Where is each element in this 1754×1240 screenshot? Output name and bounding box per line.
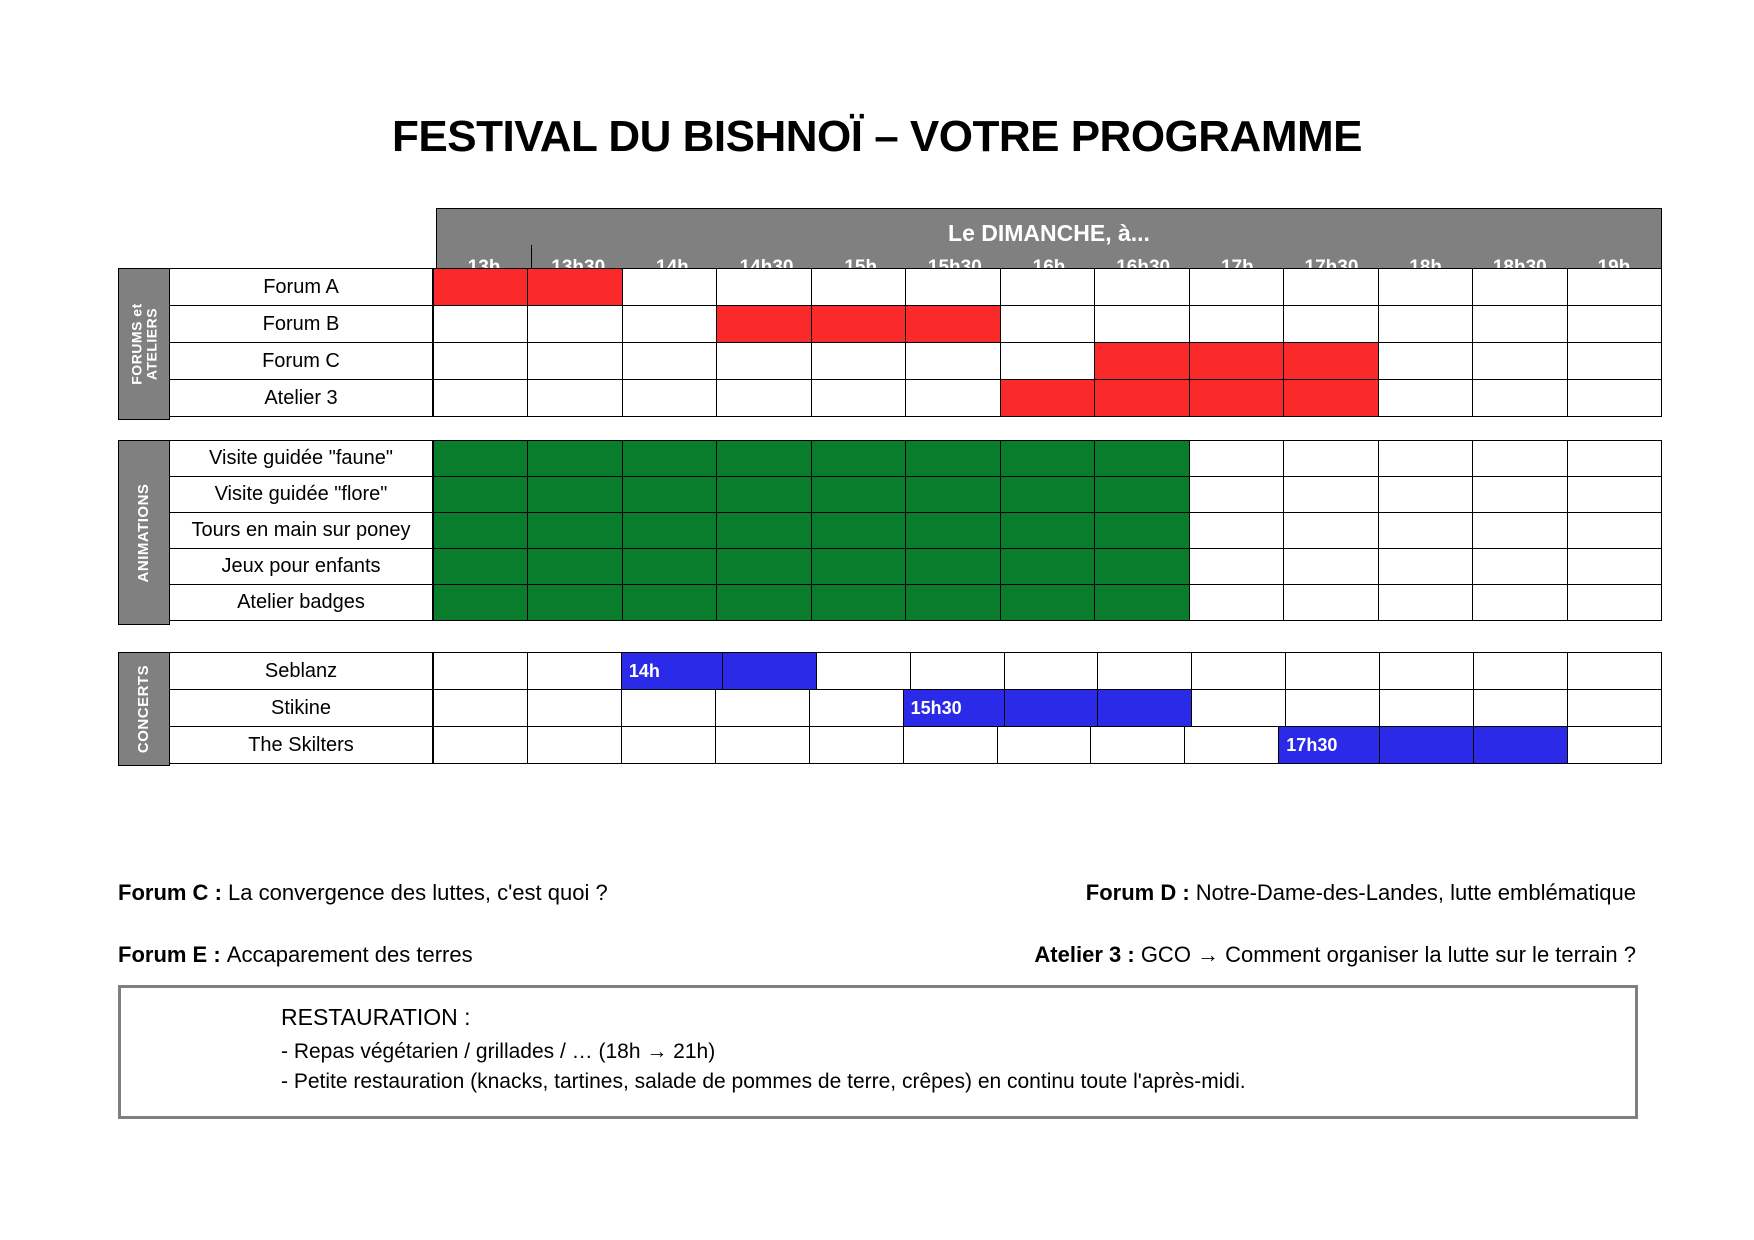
timeline-empty-cell[interactable]: [1285, 689, 1380, 727]
timeline-empty-cell[interactable]: [1567, 342, 1662, 380]
timeline-empty-cell[interactable]: [1567, 652, 1662, 690]
timeline-empty-cell[interactable]: [1567, 548, 1662, 585]
timeline-empty-cell[interactable]: [1378, 512, 1473, 549]
timeline-empty-cell[interactable]: [1567, 476, 1662, 513]
row-label: Visite guidée "faune": [170, 440, 433, 477]
timeline-grid: 14h15h3017h30: [433, 652, 1662, 766]
row-label: Forum B: [170, 305, 433, 343]
timeline-empty-cell[interactable]: [1283, 268, 1378, 306]
timeline-empty-cell[interactable]: [527, 689, 622, 727]
timeline-bar-cell[interactable]: [433, 584, 528, 621]
timeline-empty-cell[interactable]: [1283, 440, 1378, 477]
footer-note: Forum C : La convergence des luttes, c'e…: [118, 880, 608, 906]
timeline-bar-cell[interactable]: [527, 476, 622, 513]
timeline-empty-cell[interactable]: [1189, 584, 1284, 621]
timeline-empty-cell[interactable]: [1567, 726, 1662, 764]
restauration-title: RESTAURATION :: [281, 1004, 1617, 1031]
timeline-bar-cell[interactable]: [905, 440, 1000, 477]
timeline-bar-cell[interactable]: [1094, 512, 1189, 549]
timeline-bar-cell[interactable]: [811, 584, 906, 621]
section-band-line: CONCERTS: [136, 665, 152, 753]
timeline-empty-cell[interactable]: [1097, 652, 1192, 690]
timeline-empty-cell[interactable]: [715, 726, 810, 764]
row-label: Atelier 3: [170, 379, 433, 417]
timeline-bar-cell[interactable]: [527, 584, 622, 621]
timeline-empty-cell[interactable]: [716, 379, 811, 417]
timeline-empty-cell[interactable]: [1285, 652, 1380, 690]
footer-note-separator: :: [208, 880, 228, 905]
timeline-empty-cell[interactable]: [1472, 305, 1567, 343]
timeline-bar-cell[interactable]: [1189, 342, 1284, 380]
timeline-row: [433, 342, 1662, 380]
timeline-empty-cell[interactable]: [527, 652, 622, 690]
timeline-empty-cell[interactable]: [1567, 584, 1662, 621]
timeline-empty-cell[interactable]: [622, 268, 717, 306]
timeline-empty-cell[interactable]: [1472, 584, 1567, 621]
row-label: The Skilters: [170, 726, 433, 764]
timeline-bar-cell[interactable]: [905, 476, 1000, 513]
timeline-empty-cell[interactable]: [1000, 342, 1095, 380]
timeline-bar-cell[interactable]: [622, 440, 717, 477]
timeline-empty-cell[interactable]: [816, 652, 911, 690]
timeline-bar-label[interactable]: 14h: [621, 652, 723, 690]
timeline-empty-cell[interactable]: [1094, 305, 1189, 343]
timeline-bar-label[interactable]: 15h30: [903, 689, 1005, 727]
footer-note-separator: :: [1121, 942, 1141, 967]
timeline-empty-cell[interactable]: [1567, 268, 1662, 306]
timeline-empty-cell[interactable]: [1189, 305, 1284, 343]
row-label: Seblanz: [170, 652, 433, 690]
footer-note-name: Forum D: [1086, 880, 1176, 905]
row-label: Forum C: [170, 342, 433, 380]
timeline-empty-cell[interactable]: [1378, 440, 1473, 477]
programme-page: FESTIVAL DU BISHNOÏ – VOTRE PROGRAMME Le…: [0, 0, 1754, 1240]
timeline-bar-cell[interactable]: [527, 268, 622, 306]
timeline-empty-cell[interactable]: [1567, 689, 1662, 727]
timeline-empty-cell[interactable]: [433, 652, 528, 690]
footer-note-text: Accaparement des terres: [227, 942, 473, 967]
timeline-row: [433, 548, 1662, 585]
timeline-empty-cell[interactable]: [1472, 379, 1567, 417]
timeline-bar-cell[interactable]: [716, 476, 811, 513]
footer-note: Forum E : Accaparement des terres: [118, 942, 473, 968]
timeline-bar-cell[interactable]: [433, 548, 528, 585]
timeline-bar-cell[interactable]: [1094, 440, 1189, 477]
timeline-empty-cell[interactable]: [527, 342, 622, 380]
timeline-empty-cell[interactable]: [1473, 689, 1568, 727]
timeline-bar-label[interactable]: 17h30: [1278, 726, 1380, 764]
timeline-empty-cell[interactable]: [622, 342, 717, 380]
schedule-section: FORUMS etATELIERSForum AForum BForum CAt…: [118, 268, 1662, 420]
timeline-empty-cell[interactable]: [1378, 548, 1473, 585]
timeline-empty-cell[interactable]: [433, 379, 528, 417]
day-title: Le DIMANCHE, à...: [437, 209, 1661, 253]
timeline-row: [433, 512, 1662, 549]
timeline-row: [433, 584, 1662, 621]
timeline-empty-cell[interactable]: [433, 689, 528, 727]
timeline-empty-cell[interactable]: [1472, 512, 1567, 549]
timeline-empty-cell[interactable]: [811, 379, 906, 417]
row-label-column: Forum AForum BForum CAtelier 3: [170, 268, 433, 420]
timeline-bar-cell[interactable]: [811, 440, 906, 477]
timeline-empty-cell[interactable]: [1283, 548, 1378, 585]
timeline-bar-cell[interactable]: [716, 584, 811, 621]
timeline-bar-cell[interactable]: [433, 512, 528, 549]
timeline-row: 17h30: [433, 726, 1662, 764]
timeline-empty-cell[interactable]: [1189, 476, 1284, 513]
timeline-bar-cell[interactable]: [1004, 689, 1099, 727]
row-label-column: SeblanzStikineThe Skilters: [170, 652, 433, 766]
timeline-empty-cell[interactable]: [1567, 379, 1662, 417]
section-band-line: FORUMS et: [129, 303, 144, 385]
timeline-empty-cell[interactable]: [1378, 476, 1473, 513]
note-row: Forum E : Accaparement des terresAtelier…: [0, 942, 1754, 968]
timeline-empty-cell[interactable]: [1379, 652, 1474, 690]
timeline-empty-cell[interactable]: [903, 726, 998, 764]
footer-note: Atelier 3 : GCO → Comment organiser la l…: [1034, 942, 1636, 968]
timeline-empty-cell[interactable]: [1378, 379, 1473, 417]
timeline-bar-cell[interactable]: [1094, 476, 1189, 513]
timeline-bar-cell[interactable]: [1283, 342, 1378, 380]
timeline-bar-cell[interactable]: [716, 512, 811, 549]
timeline-empty-cell[interactable]: [1184, 726, 1279, 764]
timeline-empty-cell[interactable]: [809, 726, 904, 764]
timeline-empty-cell[interactable]: [1378, 268, 1473, 306]
timeline-empty-cell[interactable]: [1189, 548, 1284, 585]
timeline-empty-cell[interactable]: [1000, 268, 1095, 306]
restauration-line: - Petite restauration (knacks, tartines,…: [281, 1067, 1617, 1097]
timeline-bar-cell[interactable]: [811, 548, 906, 585]
timeline-empty-cell[interactable]: [1472, 548, 1567, 585]
timeline-bar-cell[interactable]: [811, 476, 906, 513]
row-label: Tours en main sur poney: [170, 512, 433, 549]
footer-note: Forum D : Notre-Dame-des-Landes, lutte e…: [1086, 880, 1636, 906]
footer-note-text: Notre-Dame-des-Landes, lutte emblématiqu…: [1196, 880, 1636, 905]
timeline-empty-cell[interactable]: [433, 305, 528, 343]
timeline-bar-cell[interactable]: [1094, 379, 1189, 417]
timeline-bar-cell[interactable]: [622, 548, 717, 585]
timeline-row: 14h: [433, 652, 1662, 690]
timeline-bar-cell[interactable]: [1000, 440, 1095, 477]
timeline-empty-cell[interactable]: [1094, 268, 1189, 306]
timeline-bar-cell[interactable]: [622, 512, 717, 549]
timeline-bar-cell[interactable]: [905, 548, 1000, 585]
section-band: CONCERTS: [118, 652, 170, 766]
footer-note-separator: :: [1176, 880, 1196, 905]
timeline-empty-cell[interactable]: [622, 305, 717, 343]
section-band: ANIMATIONS: [118, 440, 170, 625]
timeline-empty-cell[interactable]: [433, 726, 528, 764]
timeline-empty-cell[interactable]: [910, 652, 1005, 690]
section-band-label: CONCERTS: [136, 665, 152, 753]
timeline-empty-cell[interactable]: [1000, 305, 1095, 343]
timeline-bar-cell[interactable]: [527, 512, 622, 549]
timeline-empty-cell[interactable]: [716, 342, 811, 380]
timeline-empty-cell[interactable]: [1378, 305, 1473, 343]
timeline-empty-cell[interactable]: [1567, 512, 1662, 549]
timeline-bar-cell[interactable]: [1000, 476, 1095, 513]
timeline-empty-cell[interactable]: [1472, 342, 1567, 380]
footer-note-name: Forum C: [118, 880, 208, 905]
timeline-bar-cell[interactable]: [1000, 379, 1095, 417]
timeline-empty-cell[interactable]: [1189, 268, 1284, 306]
timeline-bar-cell[interactable]: [1097, 689, 1192, 727]
section-band-label: ANIMATIONS: [136, 483, 152, 582]
timeline-empty-cell[interactable]: [1473, 652, 1568, 690]
timeline-bar-cell[interactable]: [433, 440, 528, 477]
section-band: FORUMS etATELIERS: [118, 268, 170, 420]
timeline-bar-cell[interactable]: [433, 476, 528, 513]
timeline-empty-cell[interactable]: [1283, 305, 1378, 343]
timeline-bar-cell[interactable]: [1189, 379, 1284, 417]
timeline-empty-cell[interactable]: [997, 726, 1092, 764]
timeline-bar-cell[interactable]: [1000, 512, 1095, 549]
timeline-bar-cell[interactable]: [527, 440, 622, 477]
timeline-grid: [433, 440, 1662, 625]
timeline-empty-cell[interactable]: [1283, 584, 1378, 621]
section-band-line: ANIMATIONS: [136, 483, 152, 582]
row-label: Forum A: [170, 268, 433, 306]
timeline-row: 15h30: [433, 689, 1662, 727]
timeline-bar-cell[interactable]: [722, 652, 817, 690]
timeline-empty-cell[interactable]: [1090, 726, 1185, 764]
section-band-label: FORUMS etATELIERS: [129, 303, 158, 385]
timeline-bar-cell[interactable]: [716, 305, 811, 343]
restauration-box: RESTAURATION : - Repas végétarien / gril…: [118, 985, 1638, 1119]
timeline-bar-cell[interactable]: [1094, 342, 1189, 380]
row-label: Stikine: [170, 689, 433, 727]
timeline-empty-cell[interactable]: [1191, 689, 1286, 727]
timeline-empty-cell[interactable]: [905, 268, 1000, 306]
timeline-empty-cell[interactable]: [905, 379, 1000, 417]
timeline-empty-cell[interactable]: [1472, 268, 1567, 306]
page-title: FESTIVAL DU BISHNOÏ – VOTRE PROGRAMME: [0, 112, 1754, 162]
timeline-bar-cell[interactable]: [905, 512, 1000, 549]
row-label: Atelier badges: [170, 584, 433, 621]
timeline-empty-cell[interactable]: [1189, 440, 1284, 477]
timeline-empty-cell[interactable]: [621, 689, 716, 727]
timeline-empty-cell[interactable]: [715, 689, 810, 727]
timeline-bar-cell[interactable]: [622, 476, 717, 513]
timeline-bar-cell[interactable]: [1379, 726, 1474, 764]
footer-note-name: Atelier 3: [1034, 942, 1121, 967]
timeline-row: [433, 379, 1662, 417]
timeline-row: [433, 268, 1662, 306]
timeline-empty-cell[interactable]: [809, 689, 904, 727]
timeline-bar-cell[interactable]: [716, 548, 811, 585]
timeline-empty-cell[interactable]: [433, 342, 528, 380]
timeline-row: [433, 440, 1662, 477]
timeline-bar-cell[interactable]: [905, 584, 1000, 621]
timeline-bar-cell[interactable]: [527, 548, 622, 585]
timeline-empty-cell[interactable]: [811, 268, 906, 306]
row-label: Visite guidée "flore": [170, 476, 433, 513]
timeline-bar-cell[interactable]: [1094, 584, 1189, 621]
timeline-grid: [433, 268, 1662, 420]
timeline-empty-cell[interactable]: [1472, 476, 1567, 513]
note-row: Forum C : La convergence des luttes, c'e…: [0, 880, 1754, 906]
timeline-row: [433, 305, 1662, 343]
row-label-column: Visite guidée "faune"Visite guidée "flor…: [170, 440, 433, 625]
timeline-empty-cell[interactable]: [622, 379, 717, 417]
timeline-empty-cell[interactable]: [527, 726, 622, 764]
timeline-empty-cell[interactable]: [1472, 440, 1567, 477]
timeline-empty-cell[interactable]: [621, 726, 716, 764]
timeline-empty-cell[interactable]: [811, 342, 906, 380]
timeline-bar-cell[interactable]: [716, 440, 811, 477]
footer-note-separator: :: [207, 942, 227, 967]
timeline-bar-cell[interactable]: [811, 512, 906, 549]
timeline-empty-cell[interactable]: [1189, 512, 1284, 549]
restauration-line: - Repas végétarien / grillades / … (18h …: [281, 1037, 1617, 1067]
timeline-empty-cell[interactable]: [1378, 342, 1473, 380]
timeline-empty-cell[interactable]: [1191, 652, 1286, 690]
timeline-bar-cell[interactable]: [433, 268, 528, 306]
timeline-bar-cell[interactable]: [1000, 584, 1095, 621]
timeline-bar-cell[interactable]: [905, 305, 1000, 343]
schedule-section: ANIMATIONSVisite guidée "faune"Visite gu…: [118, 440, 1662, 625]
timeline-bar-cell[interactable]: [1094, 548, 1189, 585]
timeline-bar-cell[interactable]: [1283, 379, 1378, 417]
timeline-bar-cell[interactable]: [1000, 548, 1095, 585]
row-label: Jeux pour enfants: [170, 548, 433, 585]
timeline-empty-cell[interactable]: [1567, 440, 1662, 477]
timeline-empty-cell[interactable]: [527, 305, 622, 343]
footer-note-text: GCO → Comment organiser la lutte sur le …: [1141, 942, 1636, 967]
timeline-bar-cell[interactable]: [1473, 726, 1568, 764]
schedule-section: CONCERTSSeblanzStikineThe Skilters14h15h…: [118, 652, 1662, 766]
timeline-row: [433, 476, 1662, 513]
timeline-empty-cell[interactable]: [1378, 584, 1473, 621]
timeline-empty-cell[interactable]: [905, 342, 1000, 380]
timeline-empty-cell[interactable]: [1379, 689, 1474, 727]
timeline-bar-cell[interactable]: [622, 584, 717, 621]
timeline-empty-cell[interactable]: [1283, 476, 1378, 513]
timeline-empty-cell[interactable]: [1283, 512, 1378, 549]
timeline-empty-cell[interactable]: [716, 268, 811, 306]
timeline-bar-cell[interactable]: [811, 305, 906, 343]
timeline-empty-cell[interactable]: [527, 379, 622, 417]
timeline-empty-cell[interactable]: [1567, 305, 1662, 343]
section-band-line: ATELIERS: [144, 303, 159, 385]
footer-note-name: Forum E: [118, 942, 207, 967]
footer-note-text: La convergence des luttes, c'est quoi ?: [228, 880, 608, 905]
timeline-empty-cell[interactable]: [1004, 652, 1099, 690]
